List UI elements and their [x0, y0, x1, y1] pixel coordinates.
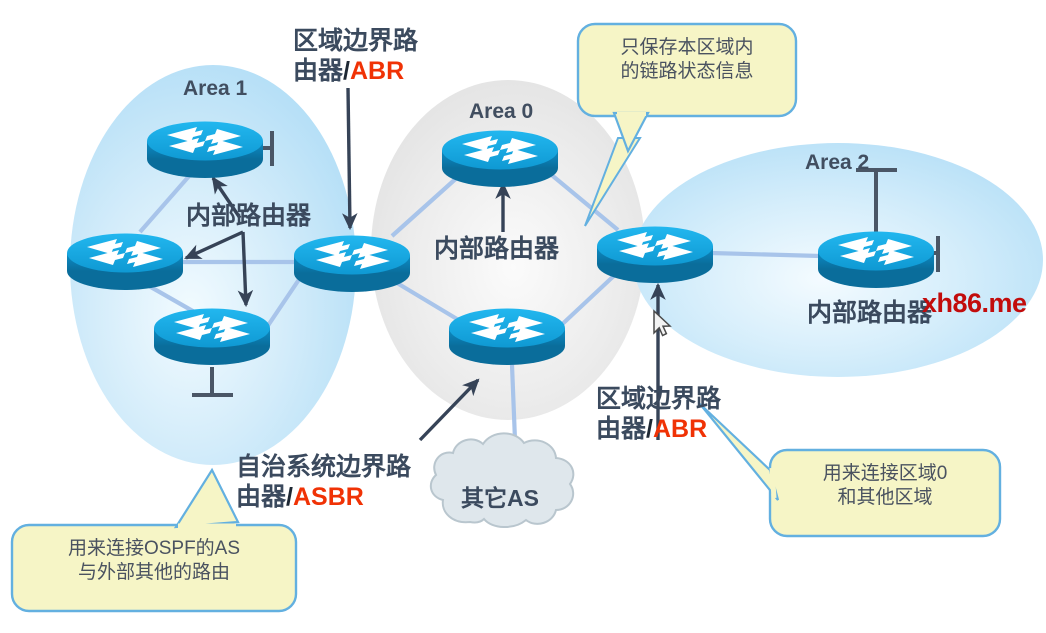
asbr-label-line1: 自治系统边界路: [236, 453, 411, 483]
callout-lsdb-line1: 只保存本区域内: [584, 36, 790, 60]
abr-label-right: 区域边界路 由器/ABR: [596, 385, 721, 444]
abr-label-top-line2: 由器/ABR: [293, 57, 418, 87]
callout-abr-line2: 和其他区域: [776, 486, 994, 510]
router-r-abr-left[interactable]: [294, 236, 410, 293]
area-label-area0: Area 0: [469, 101, 533, 124]
asbr-label-line2: 由器/ASBR: [236, 483, 411, 513]
router-r-a2[interactable]: [818, 232, 934, 289]
abr-label-right-slash: /: [646, 415, 653, 443]
cloud-label-other-as: 其它AS: [461, 479, 539, 513]
asbr-label-prefix: 由器: [236, 483, 286, 511]
abr-label-top-prefix: 由器: [293, 57, 343, 85]
abr-label-right-acronym: ABR: [653, 415, 707, 443]
abr-label-right-prefix: 由器: [596, 415, 646, 443]
abr-label-top: 区域边界路 由器/ABR: [293, 27, 418, 86]
area-label-area2: Area 2: [805, 152, 869, 175]
router-r-abr-right[interactable]: [597, 227, 713, 284]
callout-asbr-text: 用来连接OSPF的AS 与外部其他的路由: [18, 537, 290, 585]
asbr-label: 自治系统边界路 由器/ASBR: [236, 453, 411, 512]
arrow-abr-top: [348, 88, 350, 228]
abr-label-top-acronym: ABR: [350, 57, 404, 85]
router-r-a1-left[interactable]: [67, 234, 183, 291]
watermark: xh86.me: [922, 288, 1027, 319]
area-label-area1: Area 1: [183, 78, 247, 101]
callout-asbr-line1: 用来连接OSPF的AS: [18, 537, 290, 561]
diagram-canvas: Area 1 Area 0 Area 2 内部路由器 内部路由器 内部路由器 区…: [0, 0, 1046, 633]
asbr-label-slash: /: [286, 483, 293, 511]
abr-label-top-slash: /: [343, 57, 350, 85]
callout-abr-text: 用来连接区域0 和其他区域: [776, 462, 994, 510]
internal-router-label-area2: 内部路由器: [807, 300, 932, 327]
callout-lsdb-text: 只保存本区域内 的链路状态信息: [584, 36, 790, 84]
internal-router-label-area0: 内部路由器: [434, 236, 559, 263]
callout-lsdb-line2: 的链路状态信息: [584, 60, 790, 84]
router-r-a1-top[interactable]: [147, 122, 263, 179]
router-r-a0-top[interactable]: [442, 131, 558, 188]
abr-label-top-line1: 区域边界路: [293, 27, 418, 57]
callout-abr-line1: 用来连接区域0: [776, 462, 994, 486]
router-r-a0-bot[interactable]: [449, 309, 565, 366]
asbr-label-acronym: ASBR: [293, 483, 364, 511]
link-abrright-a2: [711, 253, 820, 256]
abr-label-right-line2: 由器/ABR: [596, 415, 721, 445]
callout-asbr-line2: 与外部其他的路由: [18, 561, 290, 585]
abr-label-right-line1: 区域边界路: [596, 385, 721, 415]
router-r-a1-bot[interactable]: [154, 309, 270, 366]
internal-router-label-area1: 内部路由器: [186, 203, 311, 230]
